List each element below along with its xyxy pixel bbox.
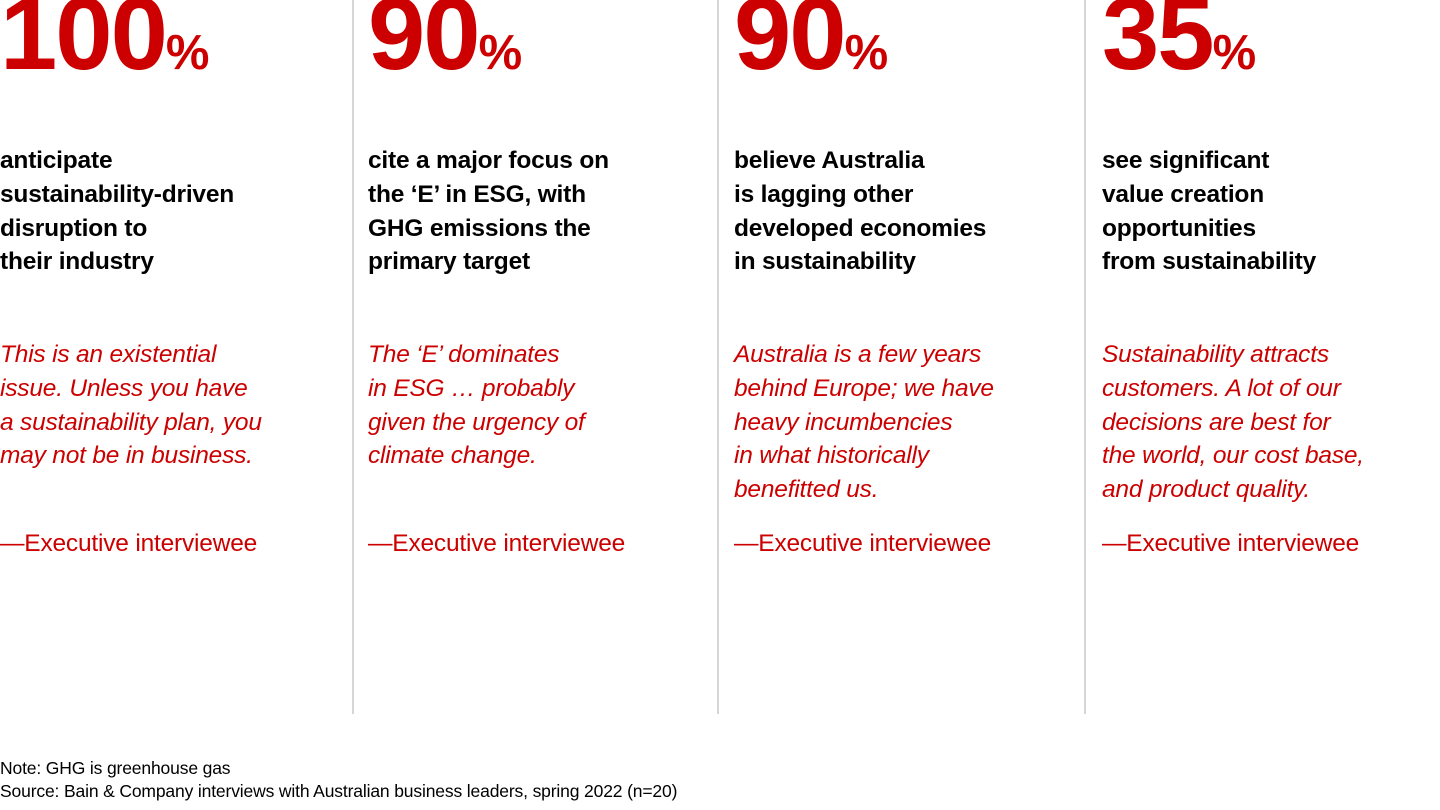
percent-symbol-4: %	[1213, 26, 1256, 80]
stat-column-4: 35% see significant value creation oppor…	[1086, 0, 1440, 718]
footnote-source: Source: Bain & Company interviews with A…	[0, 780, 1440, 803]
stat-number-3: 90	[734, 0, 845, 91]
stat-number-2: 90	[368, 0, 479, 91]
stat-headline-3: believe Australia is lagging other devel…	[734, 144, 986, 279]
stat-quote-2: The ‘E’ dominates in ESG … probably give…	[368, 338, 585, 473]
stat-value-1: 100%	[0, 0, 208, 85]
stat-headline-1: anticipate sustainability-driven disrupt…	[0, 144, 234, 279]
stat-quote-4: Sustainability attracts customers. A lot…	[1102, 338, 1364, 507]
stat-attribution-4: —Executive interviewee	[1102, 527, 1359, 561]
footnotes: Note: GHG is greenhouse gas Source: Bain…	[0, 757, 1440, 803]
percent-symbol-2: %	[479, 26, 522, 80]
stat-attribution-2: —Executive interviewee	[368, 527, 625, 561]
stat-quote-3: Australia is a few years behind Europe; …	[734, 338, 994, 507]
stat-number-1: 100	[0, 0, 166, 91]
stat-value-4: 35%	[1102, 0, 1255, 85]
stat-value-2: 90%	[368, 0, 521, 85]
sustainability-stats-infographic: 100% anticipate sustainability-driven di…	[0, 0, 1440, 810]
stat-column-2: 90% cite a major focus on the ‘E’ in ESG…	[354, 0, 719, 718]
percent-symbol-1: %	[166, 26, 209, 80]
stat-attribution-1: —Executive interviewee	[0, 527, 257, 561]
stat-column-1: 100% anticipate sustainability-driven di…	[0, 0, 354, 718]
footnote-note: Note: GHG is greenhouse gas	[0, 757, 1440, 780]
stat-column-3: 90% believe Australia is lagging other d…	[719, 0, 1086, 718]
stat-headline-4: see significant value creation opportuni…	[1102, 144, 1316, 279]
percent-symbol-3: %	[845, 26, 888, 80]
stat-headline-2: cite a major focus on the ‘E’ in ESG, wi…	[368, 144, 609, 279]
stat-value-3: 90%	[734, 0, 887, 85]
stat-columns-container: 100% anticipate sustainability-driven di…	[0, 0, 1440, 718]
stat-quote-1: This is an existential issue. Unless you…	[0, 338, 262, 473]
stat-attribution-3: —Executive interviewee	[734, 527, 991, 561]
stat-number-4: 35	[1102, 0, 1213, 91]
